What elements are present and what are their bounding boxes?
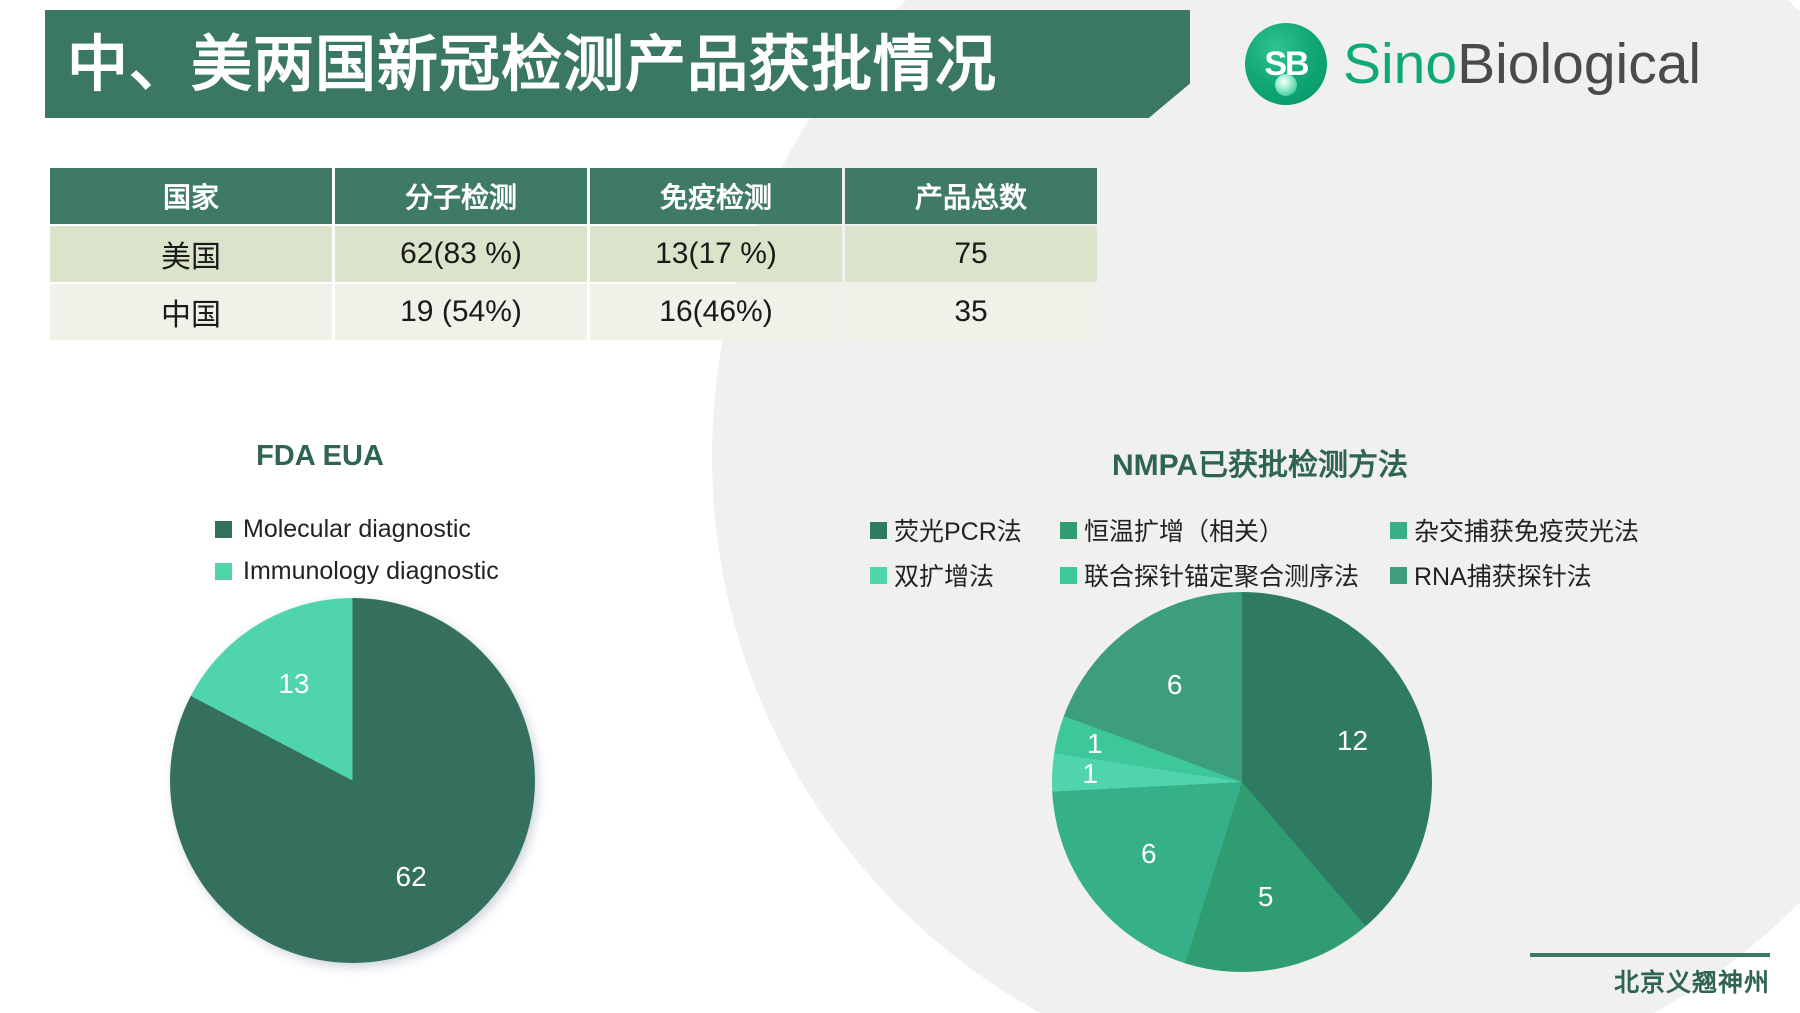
logo-wordmark: SinoBiological <box>1343 36 1701 93</box>
table-header-total: 产品总数 <box>845 168 1097 224</box>
legend-item-label: 荧光PCR法 <box>894 512 1022 548</box>
legend-item: 双扩增法 <box>870 557 1060 593</box>
cell-country-us: 美国 <box>50 226 332 282</box>
fda-chart-title: FDA EUA <box>180 440 460 473</box>
table-header-molecular: 分子检测 <box>335 168 587 224</box>
legend-swatch-icon <box>1060 567 1077 584</box>
footer-company-name: 北京义翘神州 <box>1530 963 1770 999</box>
table-header-row: 国家 分子检测 免疫检测 产品总数 <box>50 168 1097 224</box>
pie-slice-label: 6 <box>1167 671 1183 699</box>
legend-swatch-icon <box>215 521 232 538</box>
pie-slice-label: 1 <box>1087 730 1103 758</box>
legend-item-label: 恒温扩增（相关） <box>1084 512 1284 548</box>
cell-immunology-cn: 16(46%) <box>590 284 842 340</box>
legend-item: 杂交捕获免疫荧光法 <box>1390 512 1650 548</box>
logo-mark-text: SB <box>1264 47 1307 81</box>
legend-item: Molecular diagnostic <box>215 515 499 544</box>
title-banner: 中、美两国新冠检测产品获批情况 <box>45 10 1190 118</box>
pie-slice-label: 13 <box>278 670 309 698</box>
logo-mark-icon: SB <box>1245 23 1327 105</box>
pie-slice-label: 5 <box>1258 883 1274 911</box>
legend-item: 恒温扩增（相关） <box>1060 512 1390 548</box>
fda-pie-chart: 6213 <box>170 598 535 963</box>
legend-item-label: 联合探针锚定聚合测序法 <box>1084 557 1359 593</box>
table-row: 中国 19 (54%) 16(46%) 35 <box>50 284 1097 340</box>
legend-swatch-icon <box>870 567 887 584</box>
page-title: 中、美两国新冠检测产品获批情况 <box>67 34 997 95</box>
slide-canvas: 中、美两国新冠检测产品获批情况 SB SinoBiological 国家 分子检… <box>0 0 1800 1013</box>
legend-swatch-icon <box>1390 567 1407 584</box>
legend-item-label: Immunology diagnostic <box>243 557 499 586</box>
legend-swatch-icon <box>870 522 887 539</box>
legend-swatch-icon <box>1060 522 1077 539</box>
legend-item-label: RNA捕获探针法 <box>1414 557 1592 593</box>
nmpa-chart-title: NMPA已获批检测方法 <box>960 440 1560 484</box>
table-row: 美国 62(83 %) 13(17 %) 75 <box>50 226 1097 282</box>
footer: 北京义翘神州 <box>1530 953 1770 999</box>
cell-molecular-us: 62(83 %) <box>335 226 587 282</box>
legend-item: 荧光PCR法 <box>870 512 1060 548</box>
table-header-country: 国家 <box>50 168 332 224</box>
approval-summary-table: 国家 分子检测 免疫检测 产品总数 美国 62(83 %) 13(17 %) 7… <box>47 166 1100 342</box>
cell-total-cn: 35 <box>845 284 1097 340</box>
fda-chart-legend: Molecular diagnostic Immunology diagnost… <box>215 515 499 586</box>
legend-item-label: Molecular diagnostic <box>243 515 471 544</box>
legend-item: Immunology diagnostic <box>215 557 499 586</box>
pie-slice-label: 6 <box>1141 840 1157 868</box>
pie-slice-label: 62 <box>396 863 427 891</box>
legend-item: RNA捕获探针法 <box>1390 557 1650 593</box>
nmpa-pie-chart: 1256116 <box>1052 592 1432 972</box>
table-header-immunology: 免疫检测 <box>590 168 842 224</box>
cell-total-us: 75 <box>845 226 1097 282</box>
legend-item-label: 双扩增法 <box>894 557 994 593</box>
legend-swatch-icon <box>215 563 232 580</box>
cell-molecular-cn: 19 (54%) <box>335 284 587 340</box>
footer-divider <box>1530 953 1770 957</box>
sino-biological-logo: SB SinoBiological <box>1245 20 1701 108</box>
legend-swatch-icon <box>1390 522 1407 539</box>
logo-word-biological: Biological <box>1457 32 1701 96</box>
pie-slice-label: 1 <box>1082 760 1098 788</box>
logo-word-sino: Sino <box>1343 32 1457 96</box>
cell-country-cn: 中国 <box>50 284 332 340</box>
nmpa-chart-legend: 荧光PCR法 恒温扩增（相关） 杂交捕获免疫荧光法 双扩增法 联合探针锚定聚合测… <box>870 512 1610 593</box>
cell-immunology-us: 13(17 %) <box>590 226 842 282</box>
pie-slice-label: 12 <box>1337 727 1368 755</box>
legend-item: 联合探针锚定聚合测序法 <box>1060 557 1390 593</box>
legend-item-label: 杂交捕获免疫荧光法 <box>1414 512 1639 548</box>
